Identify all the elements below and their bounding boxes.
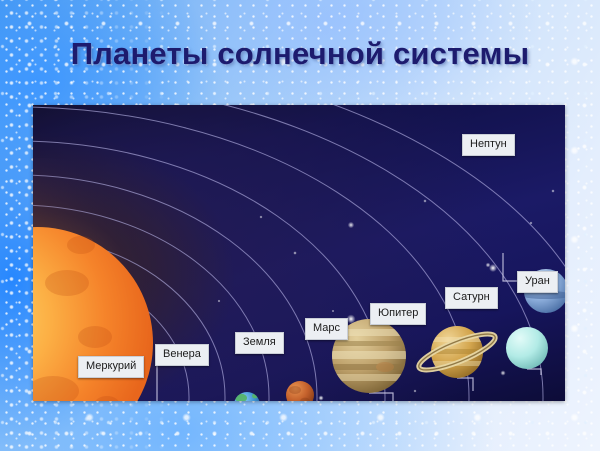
planet-label-saturn[interactable]: Сатурн — [445, 287, 498, 309]
planet-uranus — [506, 327, 548, 369]
planet-saturn — [415, 326, 499, 378]
planet-earth — [234, 392, 260, 401]
planet-mars — [286, 381, 314, 401]
background-star-accent-4 — [489, 264, 497, 272]
planet-label-venus[interactable]: Венера — [155, 344, 209, 366]
slide-canvas: Планеты солнечной системы — [0, 0, 600, 451]
planet-label-uranus[interactable]: Уран — [517, 271, 558, 293]
planet-label-mars[interactable]: Марс — [305, 318, 348, 340]
background-star-accent-2 — [318, 395, 323, 400]
planet-label-jupiter[interactable]: Юпитер — [370, 303, 426, 325]
planet-label-earth[interactable]: Земля — [235, 332, 284, 354]
planet-label-mercury[interactable]: Меркурий — [78, 356, 144, 378]
slide-title: Планеты солнечной системы — [0, 36, 600, 72]
planet-label-neptune[interactable]: Нептун — [462, 134, 515, 156]
solar-system-panel: Меркурий Венера Земля Марс Юпитер Сатурн… — [33, 105, 565, 401]
